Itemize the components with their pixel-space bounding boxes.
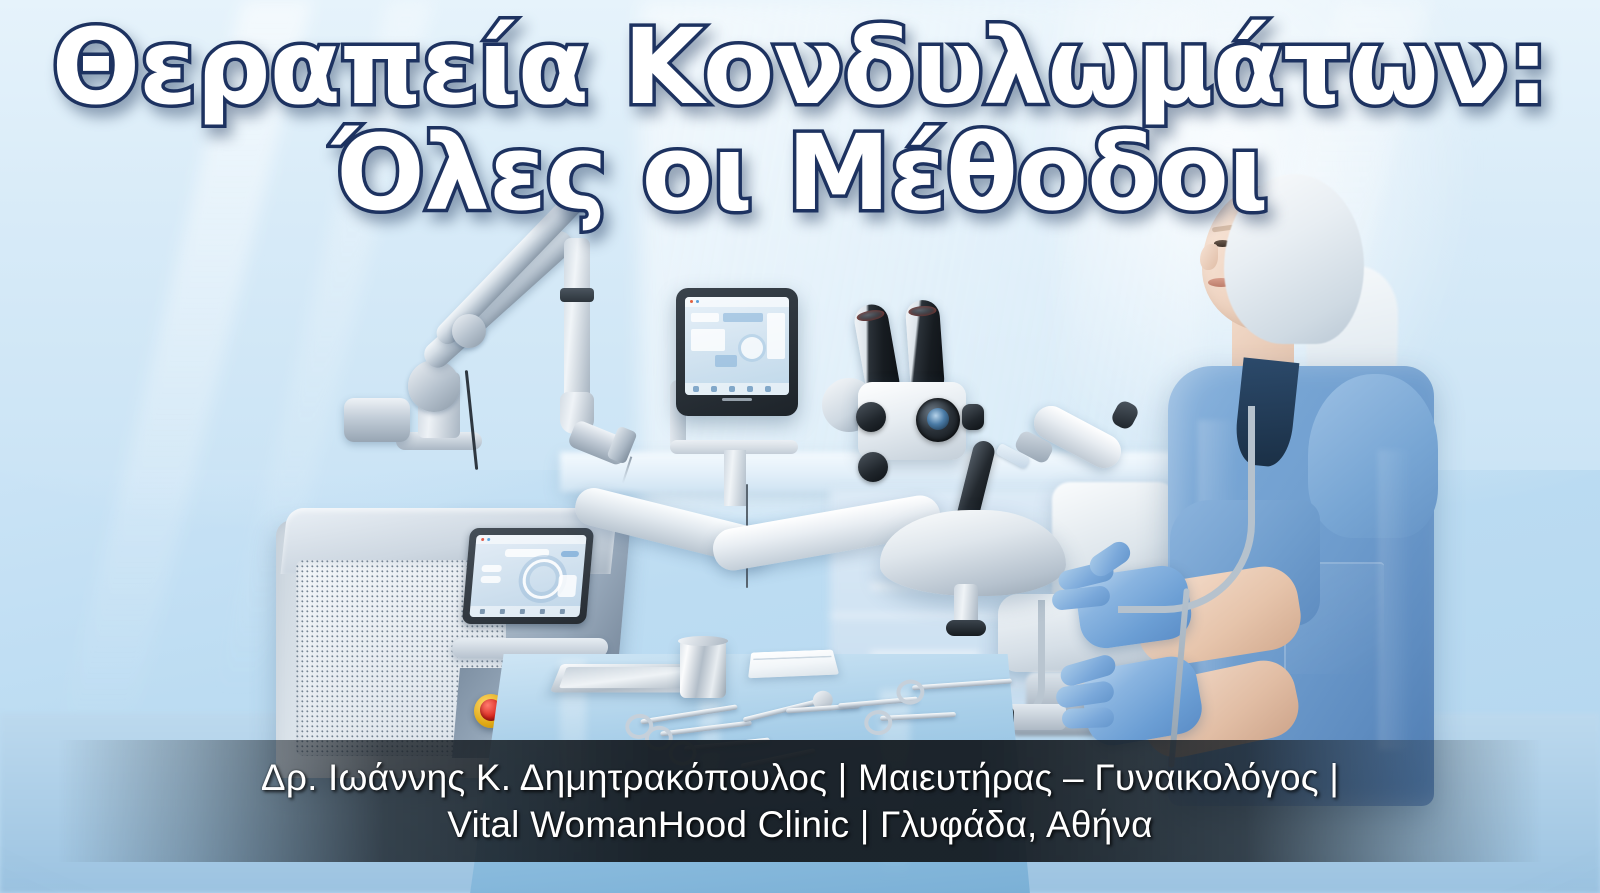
laser-arm-vertical-tube <box>564 238 590 404</box>
colposcope-focus-knob-left[interactable] <box>856 402 886 432</box>
monitor-screen-header <box>685 297 789 307</box>
monitor-toolbar-icon[interactable] <box>711 386 717 392</box>
laser-touchscreen[interactable] <box>469 535 586 617</box>
laser-screen-toolbar-icon[interactable] <box>540 609 545 614</box>
caption-line-1: Δρ. Ιωάννης Κ. Δημητρακόπουλος | Μαιευτή… <box>261 754 1339 801</box>
laser-screen-pill <box>505 549 550 557</box>
monitor-screen-target <box>741 337 763 359</box>
poster-canvas: Θεραπεία Κονδυλωμάτων: Όλες οι Μέθοδοι Δ… <box>0 0 1600 893</box>
monitor-toolbar-icon[interactable] <box>729 386 735 392</box>
monitor-screen-card <box>691 313 719 322</box>
laser-screen-pill <box>480 576 501 583</box>
gauze-stack <box>748 650 839 679</box>
laser-touchscreen-bezel <box>462 528 594 624</box>
laser-screen-pill <box>561 551 580 557</box>
clinician-hair <box>1224 174 1364 344</box>
monitor-screen-status-dot <box>690 300 693 303</box>
colposcope-objective-lens <box>916 398 960 442</box>
laser-screen-topbar <box>476 535 587 544</box>
monitor-bezel <box>676 288 798 416</box>
laser-screen-pill <box>557 575 577 597</box>
legrest-clamp[interactable] <box>1006 704 1066 730</box>
monitor-screen-bar <box>723 313 763 322</box>
colposcope-zoom-knob-right[interactable] <box>962 404 984 430</box>
monitor-brand-mark <box>722 398 752 401</box>
monitor-screen-card <box>691 329 725 351</box>
monitor-stem <box>724 450 746 506</box>
clinician-shoulder <box>1308 374 1438 538</box>
laser-screen-toolbar-icon[interactable] <box>560 609 565 614</box>
caption-bar: Δρ. Ιωάννης Κ. Δημητρακόπουλος | Μαιευτή… <box>58 740 1542 862</box>
laser-screen-toolbar-icon[interactable] <box>520 609 525 614</box>
clinician-nose <box>1200 244 1218 270</box>
legrest-adjust-knob[interactable] <box>946 620 986 636</box>
laser-screen-pill <box>481 565 502 572</box>
monitor-screen-card <box>767 313 785 359</box>
monitor-screen-toolbar <box>685 383 789 395</box>
steel-cup <box>680 640 726 698</box>
monitor-screen[interactable] <box>685 297 789 395</box>
scrub-fold <box>1378 450 1412 750</box>
monitor-toolbar-icon[interactable] <box>765 386 771 392</box>
colposcope-focus-knob-lower[interactable] <box>858 452 888 482</box>
laser-arm-joint <box>452 314 486 348</box>
touchscreen-monitor <box>676 288 816 508</box>
glove-finger <box>1062 707 1115 729</box>
caption-line-2: Vital WomanHood Clinic | Γλυφάδα, Αθήνα <box>447 801 1152 848</box>
laser-arm-collar <box>560 288 594 302</box>
monitor-toolbar-icon[interactable] <box>693 386 699 392</box>
laser-handpiece <box>1010 392 1130 524</box>
monitor-toolbar-icon[interactable] <box>747 386 753 392</box>
eyepiece-ring <box>908 305 937 317</box>
laser-screen-toolbar-icon[interactable] <box>480 609 485 614</box>
monitor-screen-highlight <box>715 355 737 367</box>
monitor-screen-status-dot <box>696 300 699 303</box>
laser-arm-counterweight <box>344 398 410 442</box>
eyepiece-ring <box>856 308 885 323</box>
laser-screen-toolbar-icon[interactable] <box>500 609 505 614</box>
handpiece-body <box>1028 400 1127 474</box>
